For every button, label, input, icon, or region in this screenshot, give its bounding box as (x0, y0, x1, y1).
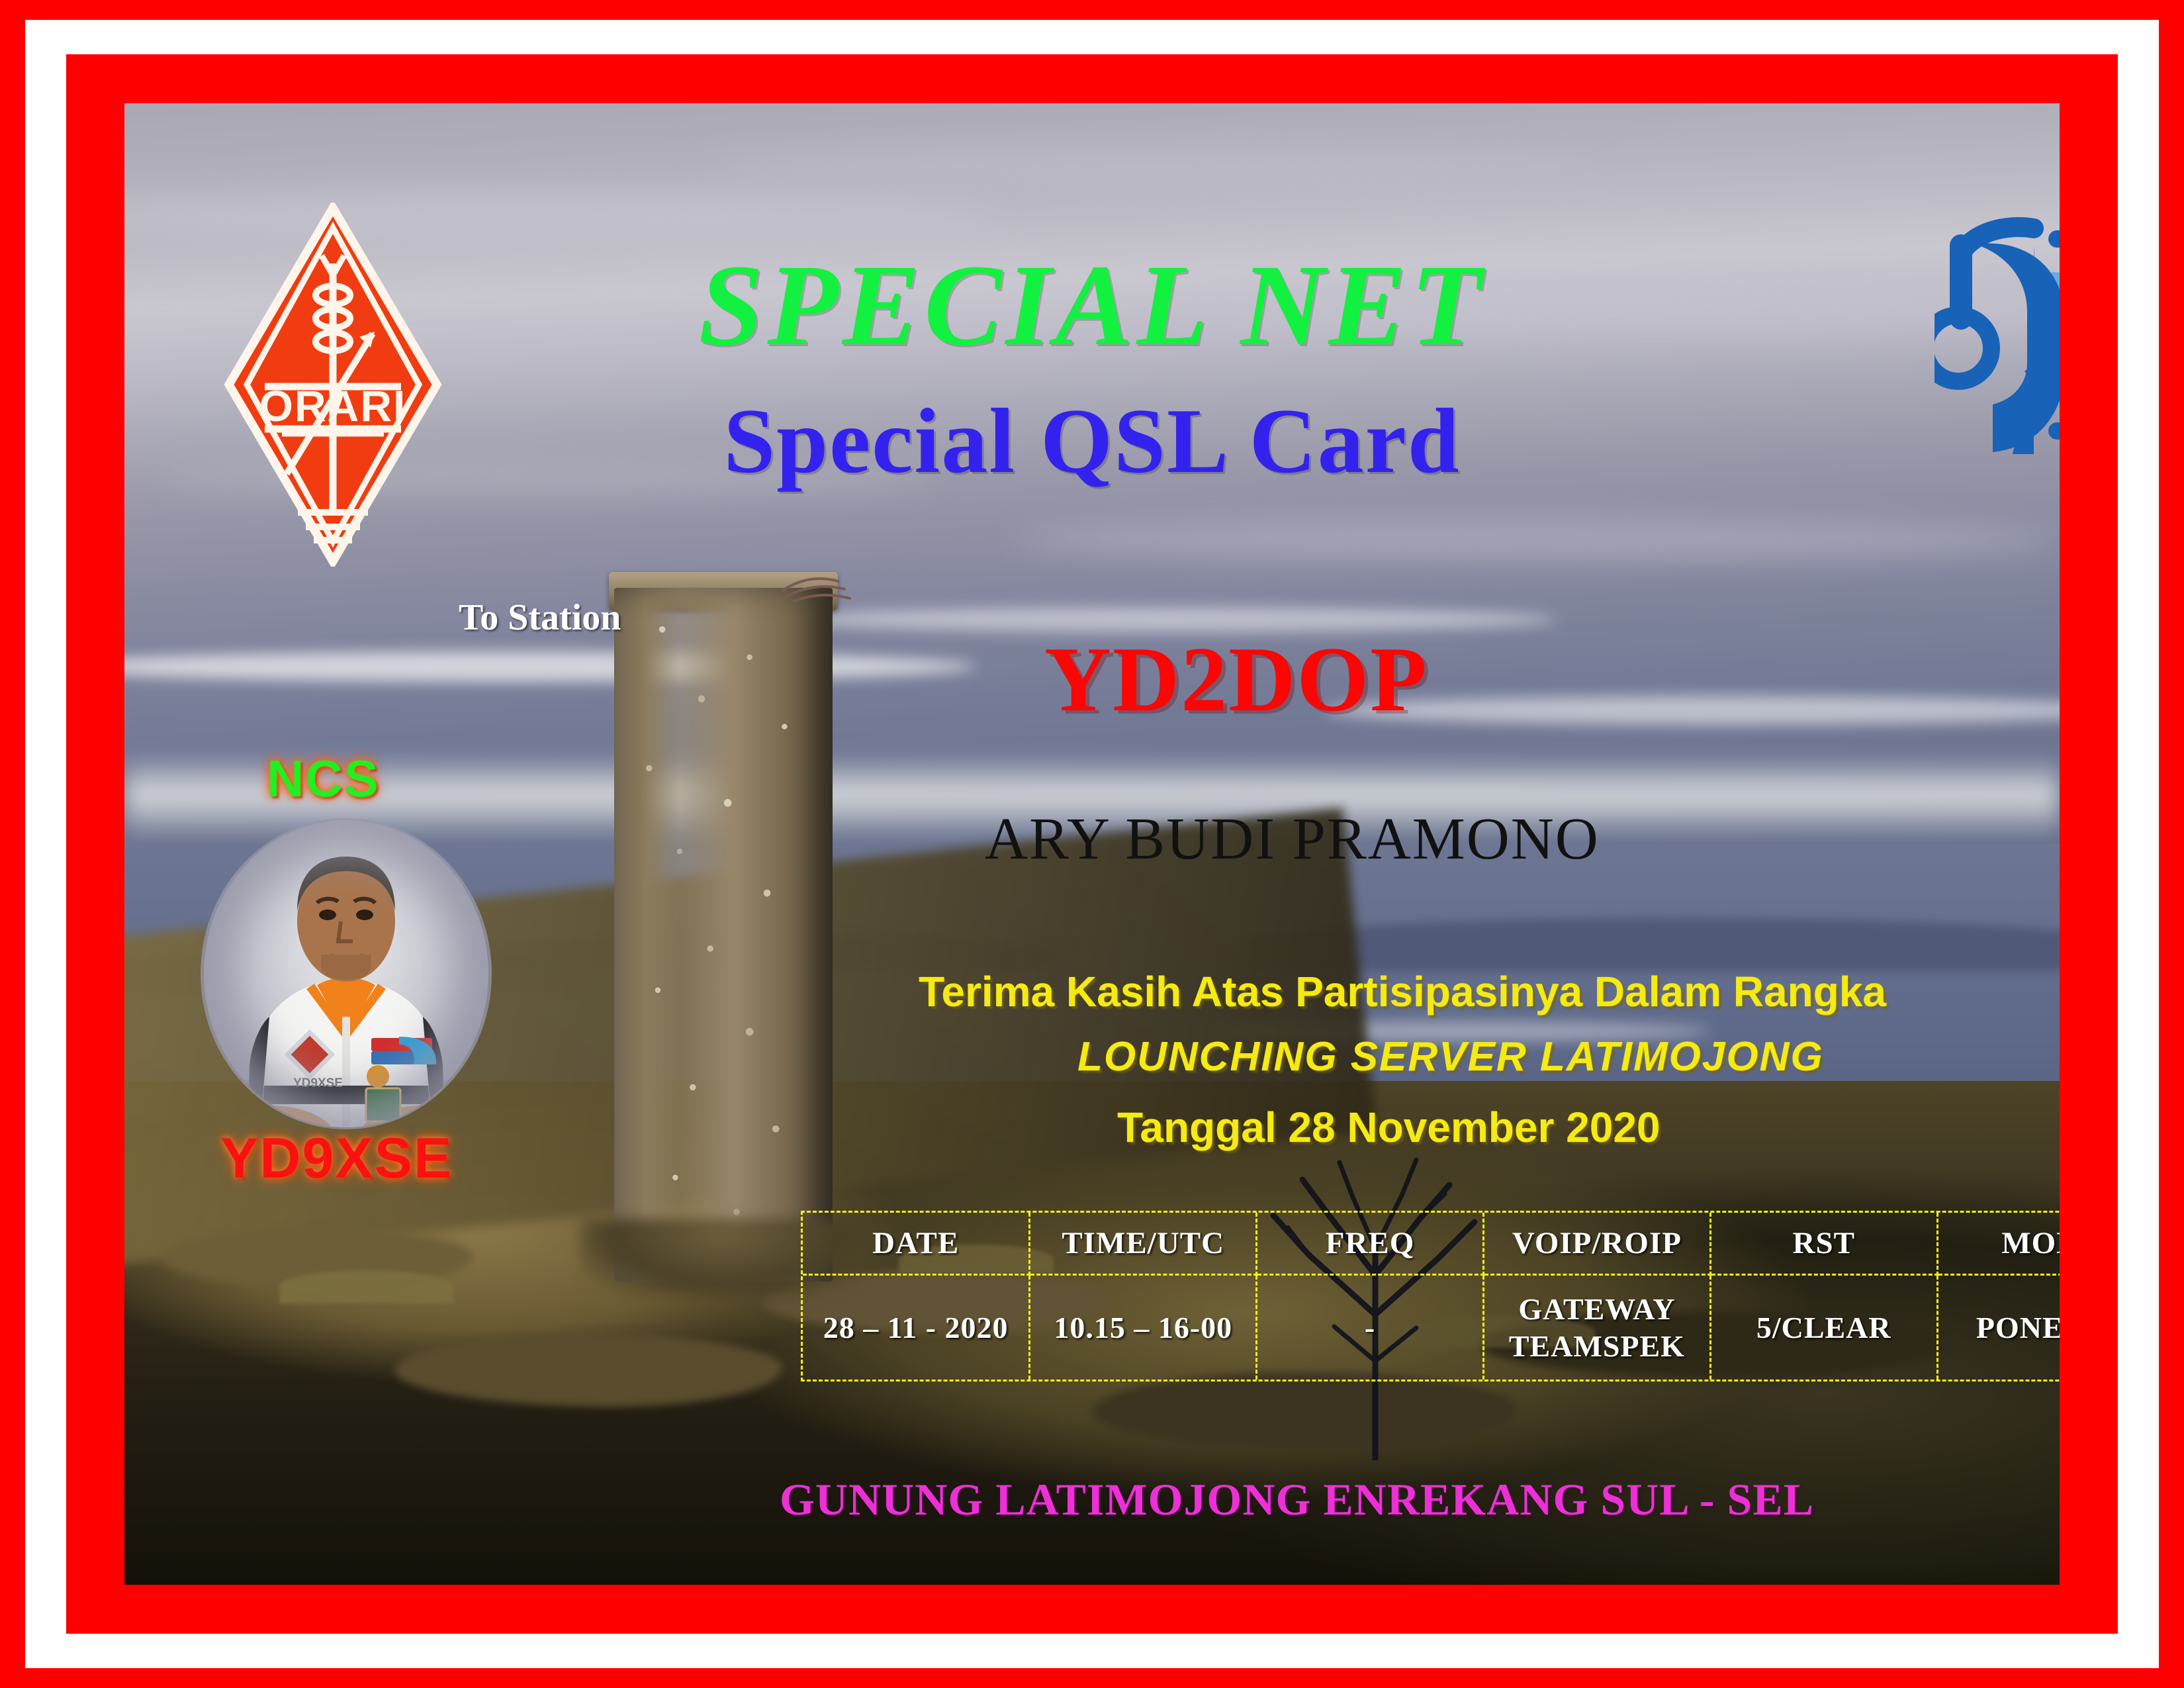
cell-freq: - (1257, 1275, 1484, 1380)
cell-mode: PONE/CW (1937, 1275, 2060, 1380)
ncs-operator-photo: YD9XSE (201, 818, 492, 1129)
cell-date: 28 – 11 - 2020 (803, 1275, 1030, 1380)
page-subtitle-special-qsl-card: Special QSL Card (124, 388, 2060, 494)
card-inner-red-border: ORARI (66, 54, 2118, 1634)
location-caption: GUNUNG LATIMOJONG ENREKANG SUL - SEL (780, 1474, 1814, 1526)
column-header-mode: MODE (1937, 1213, 2060, 1275)
cell-voip-roip-line1: GATEWAY (1484, 1291, 1709, 1328)
cell-voip-roip-line2: TEAMSPEK (1484, 1328, 1709, 1365)
ncs-label: NCS (267, 749, 380, 809)
recipient-operator-name: ARY BUDI PRAMONO (985, 805, 1600, 873)
to-station-label: To Station (459, 596, 621, 639)
column-header-voip-roip: VOIP/ROIP (1483, 1213, 1710, 1275)
column-header-freq: FREQ (1257, 1213, 1484, 1275)
portrait-vignette (201, 818, 492, 1129)
page-title-special-net: SPECIAL NET (124, 239, 2060, 373)
column-header-time-utc: TIME/UTC (1030, 1213, 1257, 1275)
qso-log-table: DATE TIME/UTC FREQ VOIP/ROIP RST MODE 28… (801, 1211, 2060, 1382)
column-header-date: DATE (803, 1213, 1030, 1275)
recipient-callsign: YD2DOP (1044, 626, 1428, 733)
thanks-line-3-date: Tanggal 28 November 2020 (1117, 1103, 1661, 1152)
far-mountain-right (1247, 918, 2060, 971)
table-header-row: DATE TIME/UTC FREQ VOIP/ROIP RST MODE (803, 1213, 2060, 1275)
card-photo-background: ORARI (124, 103, 2060, 1585)
ncs-callsign: YD9XSE (220, 1126, 453, 1192)
card-white-gap: ORARI (25, 20, 2159, 1668)
pillar-twig (781, 564, 860, 610)
thanks-line-1: Terima Kasih Atas Partisipasinya Dalam R… (919, 967, 1886, 1016)
cloud-streak-2 (705, 148, 1595, 187)
cloud-streak-5 (1015, 518, 2060, 561)
table-row: 28 – 11 - 2020 10.15 – 16-00 - GATEWAY T… (803, 1275, 2060, 1380)
qsl-card: ORARI (0, 0, 2184, 1688)
pillar-shaft (614, 588, 833, 1282)
cell-voip-roip: GATEWAY TEAMSPEK (1483, 1275, 1710, 1380)
cell-rst: 5/CLEAR (1710, 1275, 1937, 1380)
grass-tuft-1 (279, 1270, 453, 1303)
cell-time-utc: 10.15 – 16-00 (1030, 1275, 1257, 1380)
column-header-rst: RST (1710, 1213, 1937, 1275)
thanks-line-2-event: LOUNCHING SERVER LATIMOJONG (1077, 1033, 1824, 1080)
stone-pillar-monument (614, 560, 833, 1282)
